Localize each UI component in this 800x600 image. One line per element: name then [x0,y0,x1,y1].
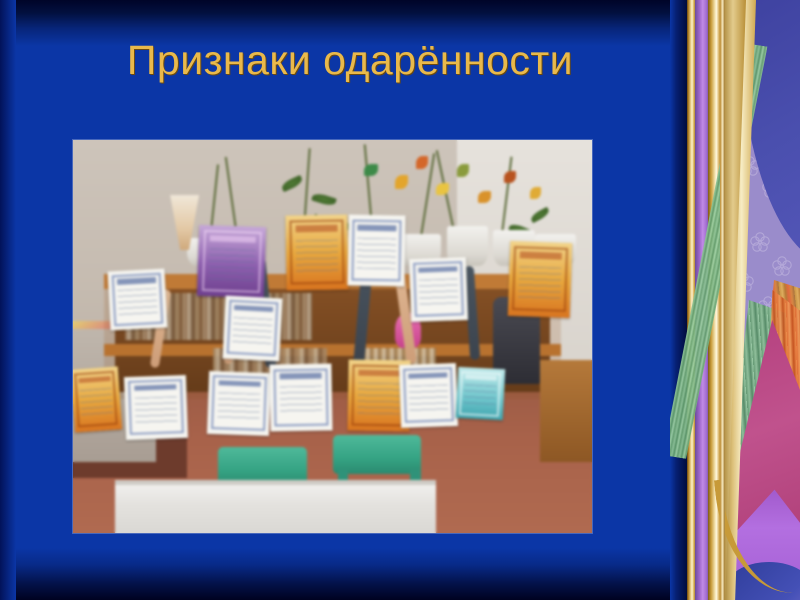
slide-photo [73,140,592,533]
wooden-cabinet [540,360,592,462]
background-left-gradient [0,0,16,600]
certificate [409,257,468,322]
certificate [73,366,122,432]
presentation-slide: Признаки одарённости [0,0,800,600]
certificate [196,225,266,298]
autumn-leaf [364,164,378,176]
certificate [270,363,333,431]
floral-side-border [670,0,800,600]
autumn-leaf [416,156,428,169]
certificate [222,296,282,362]
certificate [108,268,168,330]
certificate [124,375,188,440]
certificate [399,363,458,428]
certificate [285,214,349,290]
certificate [207,371,271,436]
certificate [347,214,405,286]
classroom-table [115,482,437,533]
border-gold-edge [720,0,725,600]
classroom-chair [333,435,421,474]
border-navy-strip [670,0,688,600]
photo-content [73,140,592,533]
certificate [456,367,505,420]
certificate [508,241,573,318]
autumn-leaf [457,164,469,177]
shelf-middle-board [104,344,561,356]
table-edge [115,480,437,486]
page-title: Признаки одарённости [40,38,660,84]
